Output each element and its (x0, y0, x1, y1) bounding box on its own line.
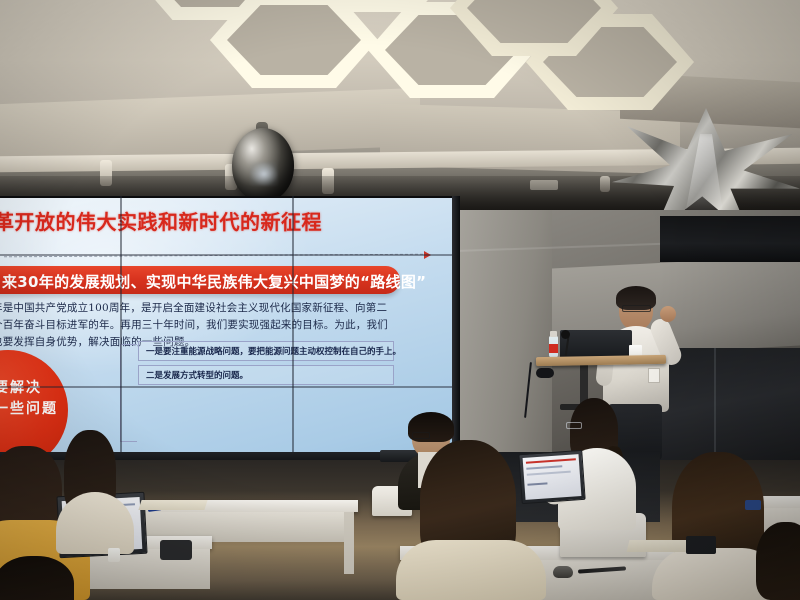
mirror-ball-balloon (232, 128, 294, 202)
audience-torso (396, 540, 546, 600)
video-wall[interactable]: 革开放的伟大实践和新时代的新征程 来30年的发展规划、实现中华民族伟大复兴中国梦… (0, 196, 458, 460)
name-badge (648, 368, 660, 383)
presentation-slide: 革开放的伟大实践和新时代的新征程 来30年的发展规划、实现中华民族伟大复兴中国梦… (0, 198, 452, 456)
hex-light-icon (450, 0, 618, 56)
videowall-seam-vertical (120, 196, 122, 460)
bottle-cap (550, 331, 557, 337)
slide-bullet-box: 二是发展方式转型的问题。 (138, 365, 394, 385)
slide-subtitle-text: 来30年的发展规划、实现中华民族伟大复兴中国梦的“路线图” (2, 271, 426, 292)
paper-cup[interactable] (108, 548, 120, 562)
hex-light-icon (210, 0, 378, 88)
tablet-device[interactable] (686, 536, 716, 554)
microphone-icon[interactable] (561, 330, 570, 339)
notebook[interactable] (627, 540, 690, 552)
slide-bullet-text: 一是要注重能源战略问题，要把能源问题主动权控制在自己的手上。 (146, 345, 401, 357)
slide-title: 革开放的伟大实践和新时代的新征程 (0, 206, 364, 235)
screenshot-scene: 革开放的伟大实践和新时代的新征程 来30年的发展规划、实现中华民族伟大复兴中国梦… (0, 0, 800, 600)
videowall-seam-horizontal (0, 386, 452, 388)
slide-bracket-connector (120, 344, 137, 442)
audience-hair (756, 522, 800, 600)
computer-mouse[interactable] (553, 566, 573, 578)
callout-line-2: 一些问题 (0, 399, 70, 420)
videowall-bezel-right (452, 196, 460, 460)
videowall-seam-vertical (292, 196, 294, 460)
chair-base-icon (160, 540, 192, 560)
slide-bullet-text: 二是发展方式转型的问题。 (146, 369, 248, 381)
notebook[interactable] (138, 500, 207, 510)
callout-line-1: 要解决 (0, 378, 70, 399)
podium-cable-coil (536, 368, 554, 378)
glasses-icon (566, 422, 582, 429)
glasses-icon (412, 432, 430, 439)
bottle-label (549, 344, 558, 353)
phone[interactable] (745, 500, 761, 510)
presenter-hand (660, 306, 676, 322)
slide-subtitle-banner: 来30年的发展规划、实现中华民族伟大复兴中国梦的“路线图” (0, 266, 400, 294)
desk-leg (344, 512, 354, 574)
videowall-seam-horizontal (0, 254, 452, 256)
glass-panel-upper (660, 216, 800, 262)
glasses-icon (622, 305, 651, 312)
audience-laptop[interactable] (518, 450, 585, 504)
slide-bullet-box: 一是要注重能源战略问题，要把能源问题主动权控制在自己的手上。 (138, 341, 394, 361)
